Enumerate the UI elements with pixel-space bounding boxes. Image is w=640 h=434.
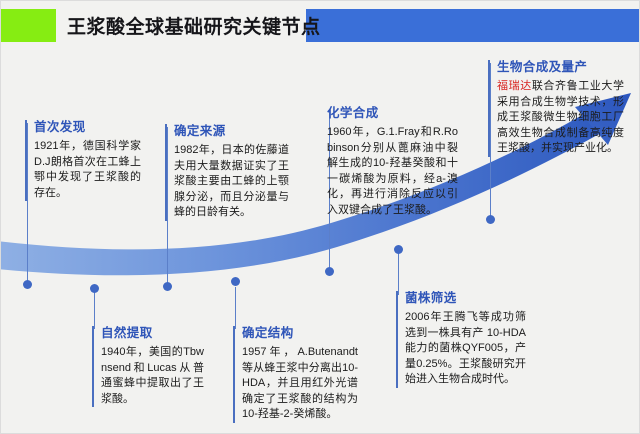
card-body: 1960年，G.1.Fray和R.Robinson分别从蓖麻油中裂解生成的10-…	[327, 125, 458, 218]
card-title: 首次发现	[34, 120, 141, 134]
card-title: 确定来源	[174, 124, 289, 138]
card-title: 确定结构	[242, 326, 358, 340]
timeline-card-structure-confirmed[interactable]: 确定结构 1957年，A.Butenandt等从蜂王浆中分离出10-HDA，并且…	[233, 326, 358, 423]
connector-line-structure-confirmed	[235, 287, 236, 329]
title-blue-accent-block	[306, 9, 640, 42]
page-title: 王浆酸全球基础研究关键节点	[67, 9, 321, 42]
timeline-dot-first-discovery	[23, 280, 32, 289]
card-title: 化学合成	[327, 106, 458, 120]
timeline-card-chemical-synthesis[interactable]: 化学合成 1960年，G.1.Fray和R.Robinson分别从蓖麻油中裂解生…	[327, 106, 458, 218]
card-title: 菌株筛选	[405, 291, 526, 305]
timeline-card-strain-screening[interactable]: 菌株筛选 2006年王腾飞等成功筛选到一株具有产 10-HDA能力的菌株QYF0…	[396, 291, 526, 388]
timeline-dot-source-confirmed	[163, 282, 172, 291]
timeline-card-natural-extraction[interactable]: 自然提取 1940年，美国的Tbwnsend和Lucas从普通蜜蜂中提取出了王浆…	[92, 326, 204, 407]
timeline-card-biosynthesis[interactable]: 生物合成及量产 福瑞达联合齐鲁工业大学采用合成生物学技术，形成王浆酸微生物细胞工…	[488, 60, 624, 157]
timeline-dot-strain-screening	[394, 245, 403, 254]
card-body: 1940年，美国的Tbwnsend和Lucas从普通蜜蜂中提取出了王浆酸。	[101, 345, 204, 407]
card-body: 1957年，A.Butenandt等从蜂王浆中分离出10-HDA，并且用红外光谱…	[242, 345, 358, 423]
timeline-dot-chemical-synthesis	[325, 267, 334, 276]
timeline-card-first-discovery[interactable]: 首次发现 1921年，德国科学家D.J朗格首次在工蜂上鄂中发现了王浆酸的存在。	[25, 120, 141, 201]
card-title: 自然提取	[101, 326, 204, 340]
card-body: 2006年王腾飞等成功筛选到一株具有产 10-HDA能力的菌株QYF005，产量…	[405, 310, 526, 388]
timeline-dot-structure-confirmed	[231, 277, 240, 286]
title-green-accent-block	[1, 9, 56, 42]
card-body: 1982年，日本的佐藤道夫用大量数据证实了王浆酸主要由工蜂的上颚腺分泌，而且分泌…	[174, 143, 289, 221]
infographic-page: 王浆酸全球基础研究关键节点	[0, 0, 640, 434]
card-body-highlight: 福瑞达	[497, 80, 532, 92]
timeline-dot-biosynthesis	[486, 215, 495, 224]
card-body: 福瑞达联合齐鲁工业大学采用合成生物学技术，形成王浆酸微生物细胞工厂高效生物合成制…	[497, 79, 624, 157]
title-bar: 王浆酸全球基础研究关键节点	[1, 9, 640, 42]
card-title: 生物合成及量产	[497, 60, 624, 74]
timeline-dot-natural-extraction	[90, 284, 99, 293]
connector-line-strain-screening	[398, 249, 399, 295]
timeline-card-source-confirmed[interactable]: 确定来源 1982年，日本的佐藤道夫用大量数据证实了王浆酸主要由工蜂的上颚腺分泌…	[165, 124, 289, 221]
card-body: 1921年，德国科学家D.J朗格首次在工蜂上鄂中发现了王浆酸的存在。	[34, 139, 141, 201]
connector-line-natural-extraction	[94, 289, 95, 329]
